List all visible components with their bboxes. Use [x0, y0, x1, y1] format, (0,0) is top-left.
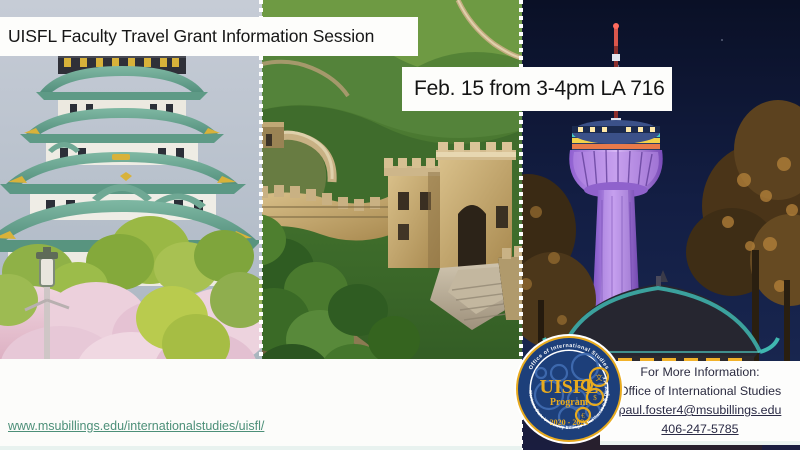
contact-heading: For More Information: [600, 365, 800, 379]
event-datetime: Feb. 15 from 3-4pm LA 716 [414, 77, 665, 101]
seal-program-word: Program [550, 397, 589, 408]
uisfl-program-seal: 文 $ € i UISFL Program 2020 - 2024 Office… [513, 333, 625, 445]
event-datetime-banner: Feb. 15 from 3-4pm LA 716 [402, 67, 672, 111]
title-banner: UISFL Faculty Travel Grant Information S… [0, 17, 418, 56]
contact-email[interactable]: paul.foster4@msubillings.edu [600, 403, 800, 417]
contact-office: Office of International Studies [600, 384, 800, 398]
poster-canvas: UISFL Faculty Travel Grant Information S… [0, 0, 800, 450]
page-title: UISFL Faculty Travel Grant Information S… [8, 26, 374, 47]
seal-acronym: UISFL [540, 376, 599, 398]
contact-phone[interactable]: 406-247-5785 [600, 422, 800, 436]
website-link[interactable]: www.msubillings.edu/internationalstudies… [8, 419, 264, 433]
bottom-left-band [0, 359, 522, 450]
